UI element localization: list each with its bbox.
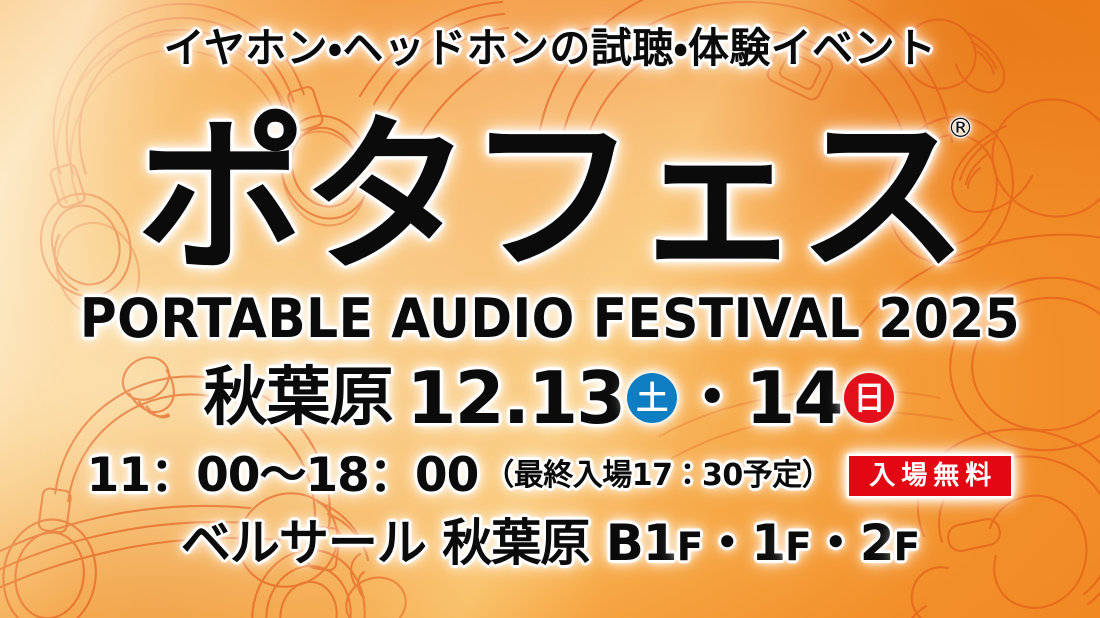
event-date-day1: 12.13 <box>407 362 625 434</box>
venue-floor-sep-2: ・ <box>811 514 860 572</box>
venue-name: ベルサール 秋葉原 <box>181 514 589 572</box>
event-date-day2: 14 <box>745 362 841 434</box>
venue-floor-2: 2 <box>860 514 894 572</box>
last-entry-note: （最終入場17：30予定） <box>484 461 831 491</box>
venue-floor-b1: B1 <box>606 514 677 572</box>
venue-floor-sep-1: ・ <box>702 514 751 572</box>
date-separator: ・ <box>681 367 743 429</box>
logo-wordmark: ポタフェス <box>137 112 964 282</box>
venue-floor-2-unit: F <box>894 525 920 570</box>
event-hours: 11：00〜18：00 <box>87 452 479 499</box>
event-venue-row: ベルサール 秋葉原 B1F・1F・2F <box>0 518 1100 568</box>
event-date-row: 秋葉原 12.13 土 ・ 14 日 <box>0 362 1100 434</box>
venue-floor-1-unit: F <box>785 525 811 570</box>
weekday-badge-saturday: 土 <box>627 373 677 423</box>
venue-line: ベルサール 秋葉原 B1F・1F・2F <box>181 514 919 572</box>
registered-trademark-icon: ® <box>947 113 974 144</box>
venue-floor-1: 1 <box>751 514 785 572</box>
venue-floor-b1-unit: F <box>677 525 703 570</box>
free-admission-badge: 入場無料 <box>847 454 1013 498</box>
event-subtitle: PORTABLE AUDIO FESTIVAL 2025 <box>39 292 1062 346</box>
poster-banner: イヤホン・ヘッドホンの試聴・体験イベント ポタフェス ® PORTABLE AU… <box>0 0 1100 618</box>
event-logo: ポタフェス ® <box>0 104 1100 289</box>
event-tagline: イヤホン・ヘッドホンの試聴・体験イベント <box>0 28 1100 69</box>
event-city: 秋葉原 <box>204 366 393 430</box>
event-time-row: 11：00〜18：00 （最終入場17：30予定） 入場無料 <box>0 452 1100 499</box>
weekday-badge-sunday: 日 <box>844 373 894 423</box>
